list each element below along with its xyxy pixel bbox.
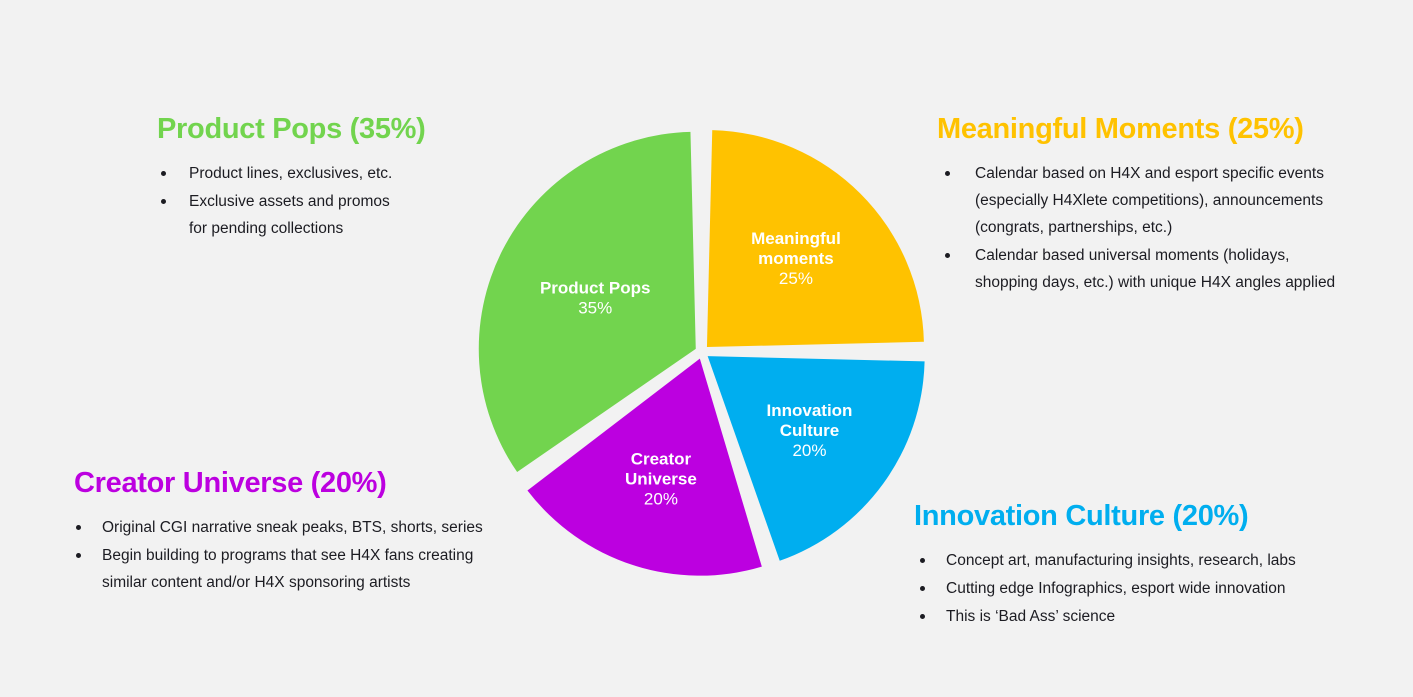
- list-item: Product lines, exclusives, etc.: [157, 160, 426, 187]
- bullet-list-meaningful-moments: Calendar based on H4X and esport specifi…: [937, 160, 1335, 296]
- infographic-canvas: Meaningfulmoments25%InnovationCulture20%…: [0, 0, 1413, 697]
- section-product-pops: Product Pops (35%) Product lines, exclus…: [157, 114, 426, 243]
- list-item: Begin building to programs that see H4X …: [74, 542, 483, 596]
- bullet-dot-icon: [945, 253, 950, 258]
- bullet-text: This is ‘Bad Ass’ science: [946, 608, 1115, 625]
- list-item: Calendar based universal moments (holida…: [937, 242, 1335, 296]
- bullet-text: Calendar based on H4X and esport specifi…: [975, 165, 1324, 182]
- bullet-dot-icon: [920, 586, 925, 591]
- bullet-list-creator-universe: Original CGI narrative sneak peaks, BTS,…: [74, 514, 483, 596]
- bullet-text: Original CGI narrative sneak peaks, BTS,…: [102, 519, 483, 536]
- bullet-text-continuation: similar content and/or H4X sponsoring ar…: [102, 569, 483, 596]
- bullet-text: Calendar based universal moments (holida…: [975, 247, 1289, 264]
- bullet-text-continuation: shopping days, etc.) with unique H4X ang…: [975, 269, 1335, 296]
- bullet-text-continuation: (especially H4Xlete competitions), annou…: [975, 187, 1335, 214]
- list-item: Original CGI narrative sneak peaks, BTS,…: [74, 514, 483, 541]
- bullet-dot-icon: [76, 553, 81, 558]
- bullet-text: Begin building to programs that see H4X …: [102, 547, 473, 564]
- bullet-list-product-pops: Product lines, exclusives, etc. Exclusiv…: [157, 160, 426, 242]
- list-item: Concept art, manufacturing insights, res…: [914, 547, 1296, 574]
- list-item: Cutting edge Infographics, esport wide i…: [914, 575, 1296, 602]
- section-meaningful-moments: Meaningful Moments (25%) Calendar based …: [937, 114, 1335, 297]
- section-heading-creator-universe: Creator Universe (20%): [74, 468, 483, 500]
- bullet-text: Exclusive assets and promos: [189, 193, 390, 210]
- bullet-text: Concept art, manufacturing insights, res…: [946, 552, 1296, 569]
- bullet-text-continuation: for pending collections: [189, 215, 426, 242]
- section-heading-innovation-culture: Innovation Culture (20%): [914, 501, 1296, 533]
- section-heading-meaningful-moments: Meaningful Moments (25%): [937, 114, 1335, 146]
- list-item: This is ‘Bad Ass’ science: [914, 603, 1296, 630]
- list-item: Calendar based on H4X and esport specifi…: [937, 160, 1335, 241]
- list-item: Exclusive assets and promos for pending …: [157, 188, 426, 242]
- bullet-dot-icon: [76, 525, 81, 530]
- section-innovation-culture: Innovation Culture (20%) Concept art, ma…: [914, 501, 1296, 631]
- pie-chart-svg: Meaningfulmoments25%InnovationCulture20%…: [470, 120, 935, 585]
- bullet-dot-icon: [920, 614, 925, 619]
- bullet-dot-icon: [945, 171, 950, 176]
- bullet-text-continuation-2: (congrats, partnerships, etc.): [975, 214, 1335, 241]
- bullet-list-innovation-culture: Concept art, manufacturing insights, res…: [914, 547, 1296, 630]
- section-heading-product-pops: Product Pops (35%): [157, 114, 426, 146]
- bullet-dot-icon: [161, 199, 166, 204]
- bullet-dot-icon: [161, 171, 166, 176]
- section-creator-universe: Creator Universe (20%) Original CGI narr…: [74, 468, 483, 597]
- bullet-dot-icon: [920, 558, 925, 563]
- pie-chart: Meaningfulmoments25%InnovationCulture20%…: [470, 120, 935, 585]
- bullet-text: Cutting edge Infographics, esport wide i…: [946, 580, 1286, 597]
- bullet-text: Product lines, exclusives, etc.: [189, 165, 392, 182]
